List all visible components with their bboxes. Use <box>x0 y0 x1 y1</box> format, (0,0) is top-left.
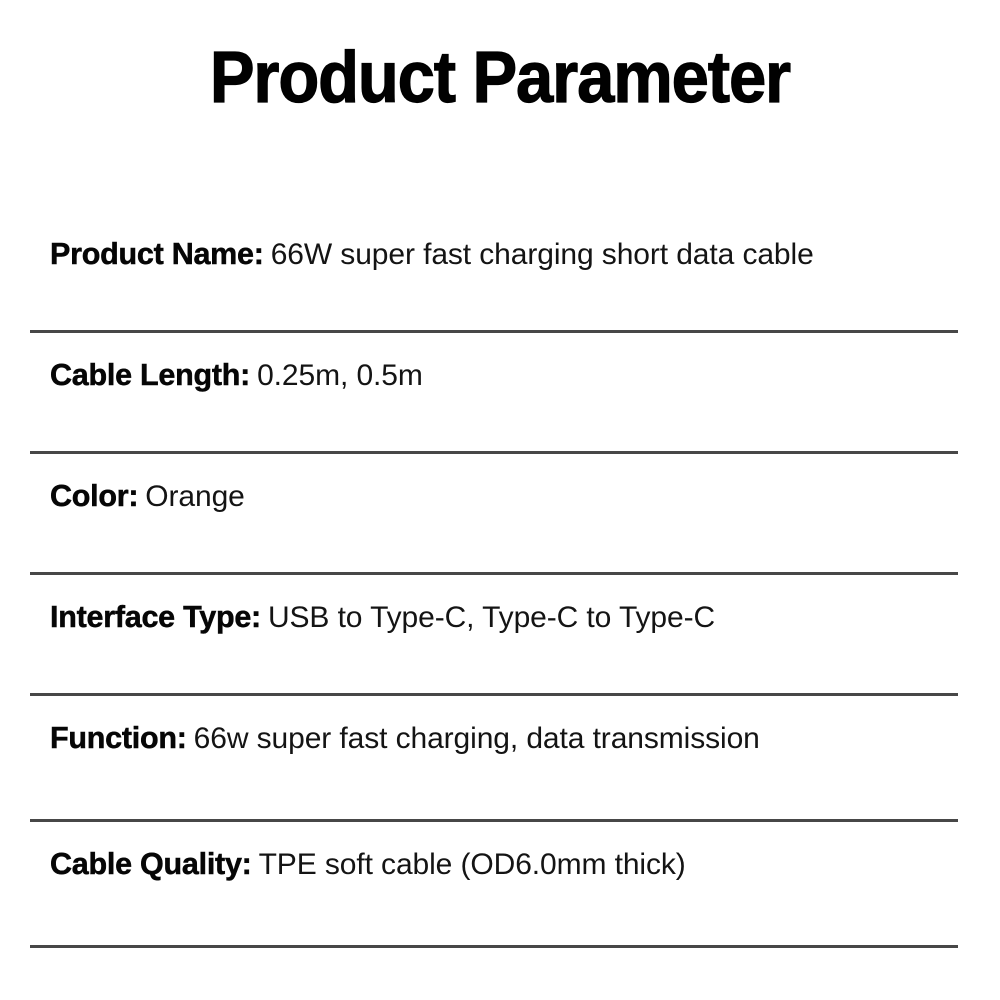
spec-value-cable-quality: TPE soft cable (OD6.0mm thick) <box>259 848 686 881</box>
spec-label-cable-length: Cable Length: <box>50 358 250 392</box>
table-row: Cable Quality:TPE soft cable (OD6.0mm th… <box>30 822 958 948</box>
spec-value-function: 66w super fast charging, data transmissi… <box>194 722 760 755</box>
spec-line: Cable Length:0.25m, 0.5m <box>50 355 958 396</box>
spec-value-interface-type: USB to Type-C, Type-C to Type-C <box>268 601 715 634</box>
page-title: Product Parameter <box>210 42 790 114</box>
specification-table: Product Name:66W super fast charging sho… <box>30 212 958 948</box>
spec-line: Color:Orange <box>50 476 958 517</box>
table-row: Function:66w super fast charging, data t… <box>30 696 958 822</box>
spec-line: Product Name:66W super fast charging sho… <box>50 234 958 275</box>
spec-label-function: Function: <box>50 721 187 755</box>
spec-line: Function:66w super fast charging, data t… <box>50 718 958 759</box>
spec-label-color: Color: <box>50 479 138 513</box>
spec-label-cable-quality: Cable Quality: <box>50 847 252 881</box>
product-parameter-sheet: Product Parameter Product Name:66W super… <box>0 0 1000 1000</box>
spec-label-product-name: Product Name: <box>50 237 264 271</box>
spec-value-color: Orange <box>145 480 244 513</box>
spec-value-cable-length: 0.25m, 0.5m <box>257 359 423 392</box>
spec-value-product-name: 66W super fast charging short data cable <box>271 238 814 271</box>
spec-line: Cable Quality:TPE soft cable (OD6.0mm th… <box>50 844 958 885</box>
page-title-block: Product Parameter <box>0 42 1000 114</box>
table-row: Interface Type:USB to Type-C, Type-C to … <box>30 575 958 696</box>
table-row: Color:Orange <box>30 454 958 575</box>
spec-line: Interface Type:USB to Type-C, Type-C to … <box>50 597 958 638</box>
table-row: Product Name:66W super fast charging sho… <box>30 212 958 333</box>
table-row: Cable Length:0.25m, 0.5m <box>30 333 958 454</box>
spec-label-interface-type: Interface Type: <box>50 600 261 634</box>
